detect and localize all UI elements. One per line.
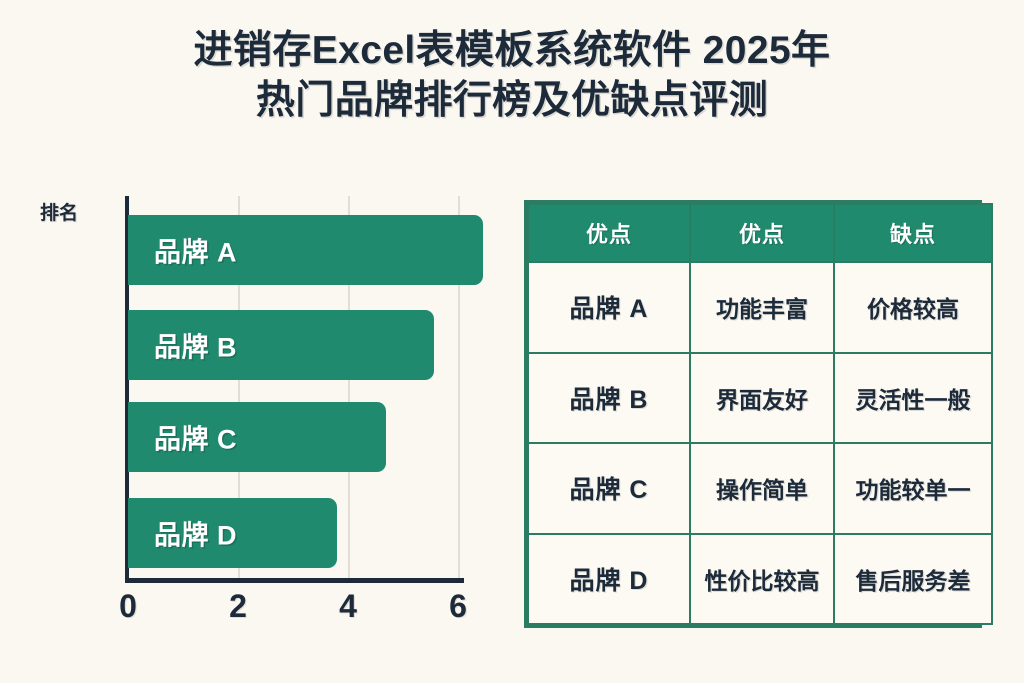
bar-label-brand-a: 品牌 A bbox=[154, 231, 237, 270]
table-header-con: 缺点 bbox=[834, 204, 992, 262]
x-tick-6: 6 bbox=[428, 588, 488, 625]
cell-pro: 界面友好 bbox=[690, 353, 834, 444]
table-header-brand: 优点 bbox=[528, 204, 690, 262]
comparison-table-panel: 优点 优点 缺点 品牌 A 功能丰富 价格较高 品牌 B 界面友好 灵活性一般 … bbox=[524, 200, 982, 628]
bar-brand-d[interactable]: 品牌 D bbox=[128, 498, 337, 568]
bar-brand-a[interactable]: 品牌 A bbox=[128, 215, 483, 285]
y-tick-1: 1 bbox=[0, 252, 16, 285]
bar-label-brand-d: 品牌 D bbox=[154, 514, 237, 553]
y-tick-2: 2 bbox=[0, 346, 16, 379]
cell-con: 功能较单一 bbox=[834, 443, 992, 534]
bar-label-brand-b: 品牌 B bbox=[154, 326, 237, 365]
chart-x-axis-line bbox=[125, 578, 464, 583]
page-title: 进销存Excel表模板系统软件 2025年 热门品牌排行榜及优缺点评测 bbox=[0, 26, 1024, 126]
table-body: 品牌 A 功能丰富 价格较高 品牌 B 界面友好 灵活性一般 品牌 C 操作简单… bbox=[528, 262, 992, 624]
cell-brand: 品牌 D bbox=[528, 534, 690, 625]
bar-label-brand-c: 品牌 C bbox=[154, 418, 237, 457]
bar-brand-c[interactable]: 品牌 C bbox=[128, 402, 386, 472]
bar-row-1: 品牌 A bbox=[128, 215, 488, 285]
page-title-line-1: 进销存Excel表模板系统软件 2025年 bbox=[0, 26, 1024, 76]
page-title-line-2: 热门品牌排行榜及优缺点评测 bbox=[0, 76, 1024, 126]
cell-pro: 操作简单 bbox=[690, 443, 834, 534]
cell-con: 售后服务差 bbox=[834, 534, 992, 625]
cell-brand: 品牌 B bbox=[528, 353, 690, 444]
cell-brand: 品牌 C bbox=[528, 443, 690, 534]
cell-brand: 品牌 A bbox=[528, 262, 690, 353]
table-header-row: 优点 优点 缺点 bbox=[528, 204, 992, 262]
cell-con: 价格较高 bbox=[834, 262, 992, 353]
bar-brand-b[interactable]: 品牌 B bbox=[128, 310, 434, 380]
ranking-bar-chart: 排名 品牌 A 品牌 B 品牌 C 品牌 D 1 2 3 4 0 2 4 6 bbox=[0, 190, 510, 660]
cell-con: 灵活性一般 bbox=[834, 353, 992, 444]
table-header-pro: 优点 bbox=[690, 204, 834, 262]
cell-pro: 性价比较高 bbox=[690, 534, 834, 625]
bar-row-3: 品牌 C bbox=[128, 402, 488, 472]
bar-row-2: 品牌 B bbox=[128, 310, 488, 380]
bar-row-4: 品牌 D bbox=[128, 498, 488, 568]
y-tick-4: 4 bbox=[0, 534, 16, 567]
chart-y-axis-label: 排名 bbox=[40, 198, 78, 225]
x-tick-2: 2 bbox=[208, 588, 268, 625]
x-tick-4: 4 bbox=[318, 588, 378, 625]
table-row: 品牌 D 性价比较高 售后服务差 bbox=[528, 534, 992, 625]
x-tick-0: 0 bbox=[98, 588, 158, 625]
table-row: 品牌 B 界面友好 灵活性一般 bbox=[528, 353, 992, 444]
cell-pro: 功能丰富 bbox=[690, 262, 834, 353]
comparison-table: 优点 优点 缺点 品牌 A 功能丰富 价格较高 品牌 B 界面友好 灵活性一般 … bbox=[527, 203, 993, 625]
table-header: 优点 优点 缺点 bbox=[528, 204, 992, 262]
y-tick-3: 3 bbox=[0, 438, 16, 471]
table-row: 品牌 C 操作简单 功能较单一 bbox=[528, 443, 992, 534]
table-row: 品牌 A 功能丰富 价格较高 bbox=[528, 262, 992, 353]
